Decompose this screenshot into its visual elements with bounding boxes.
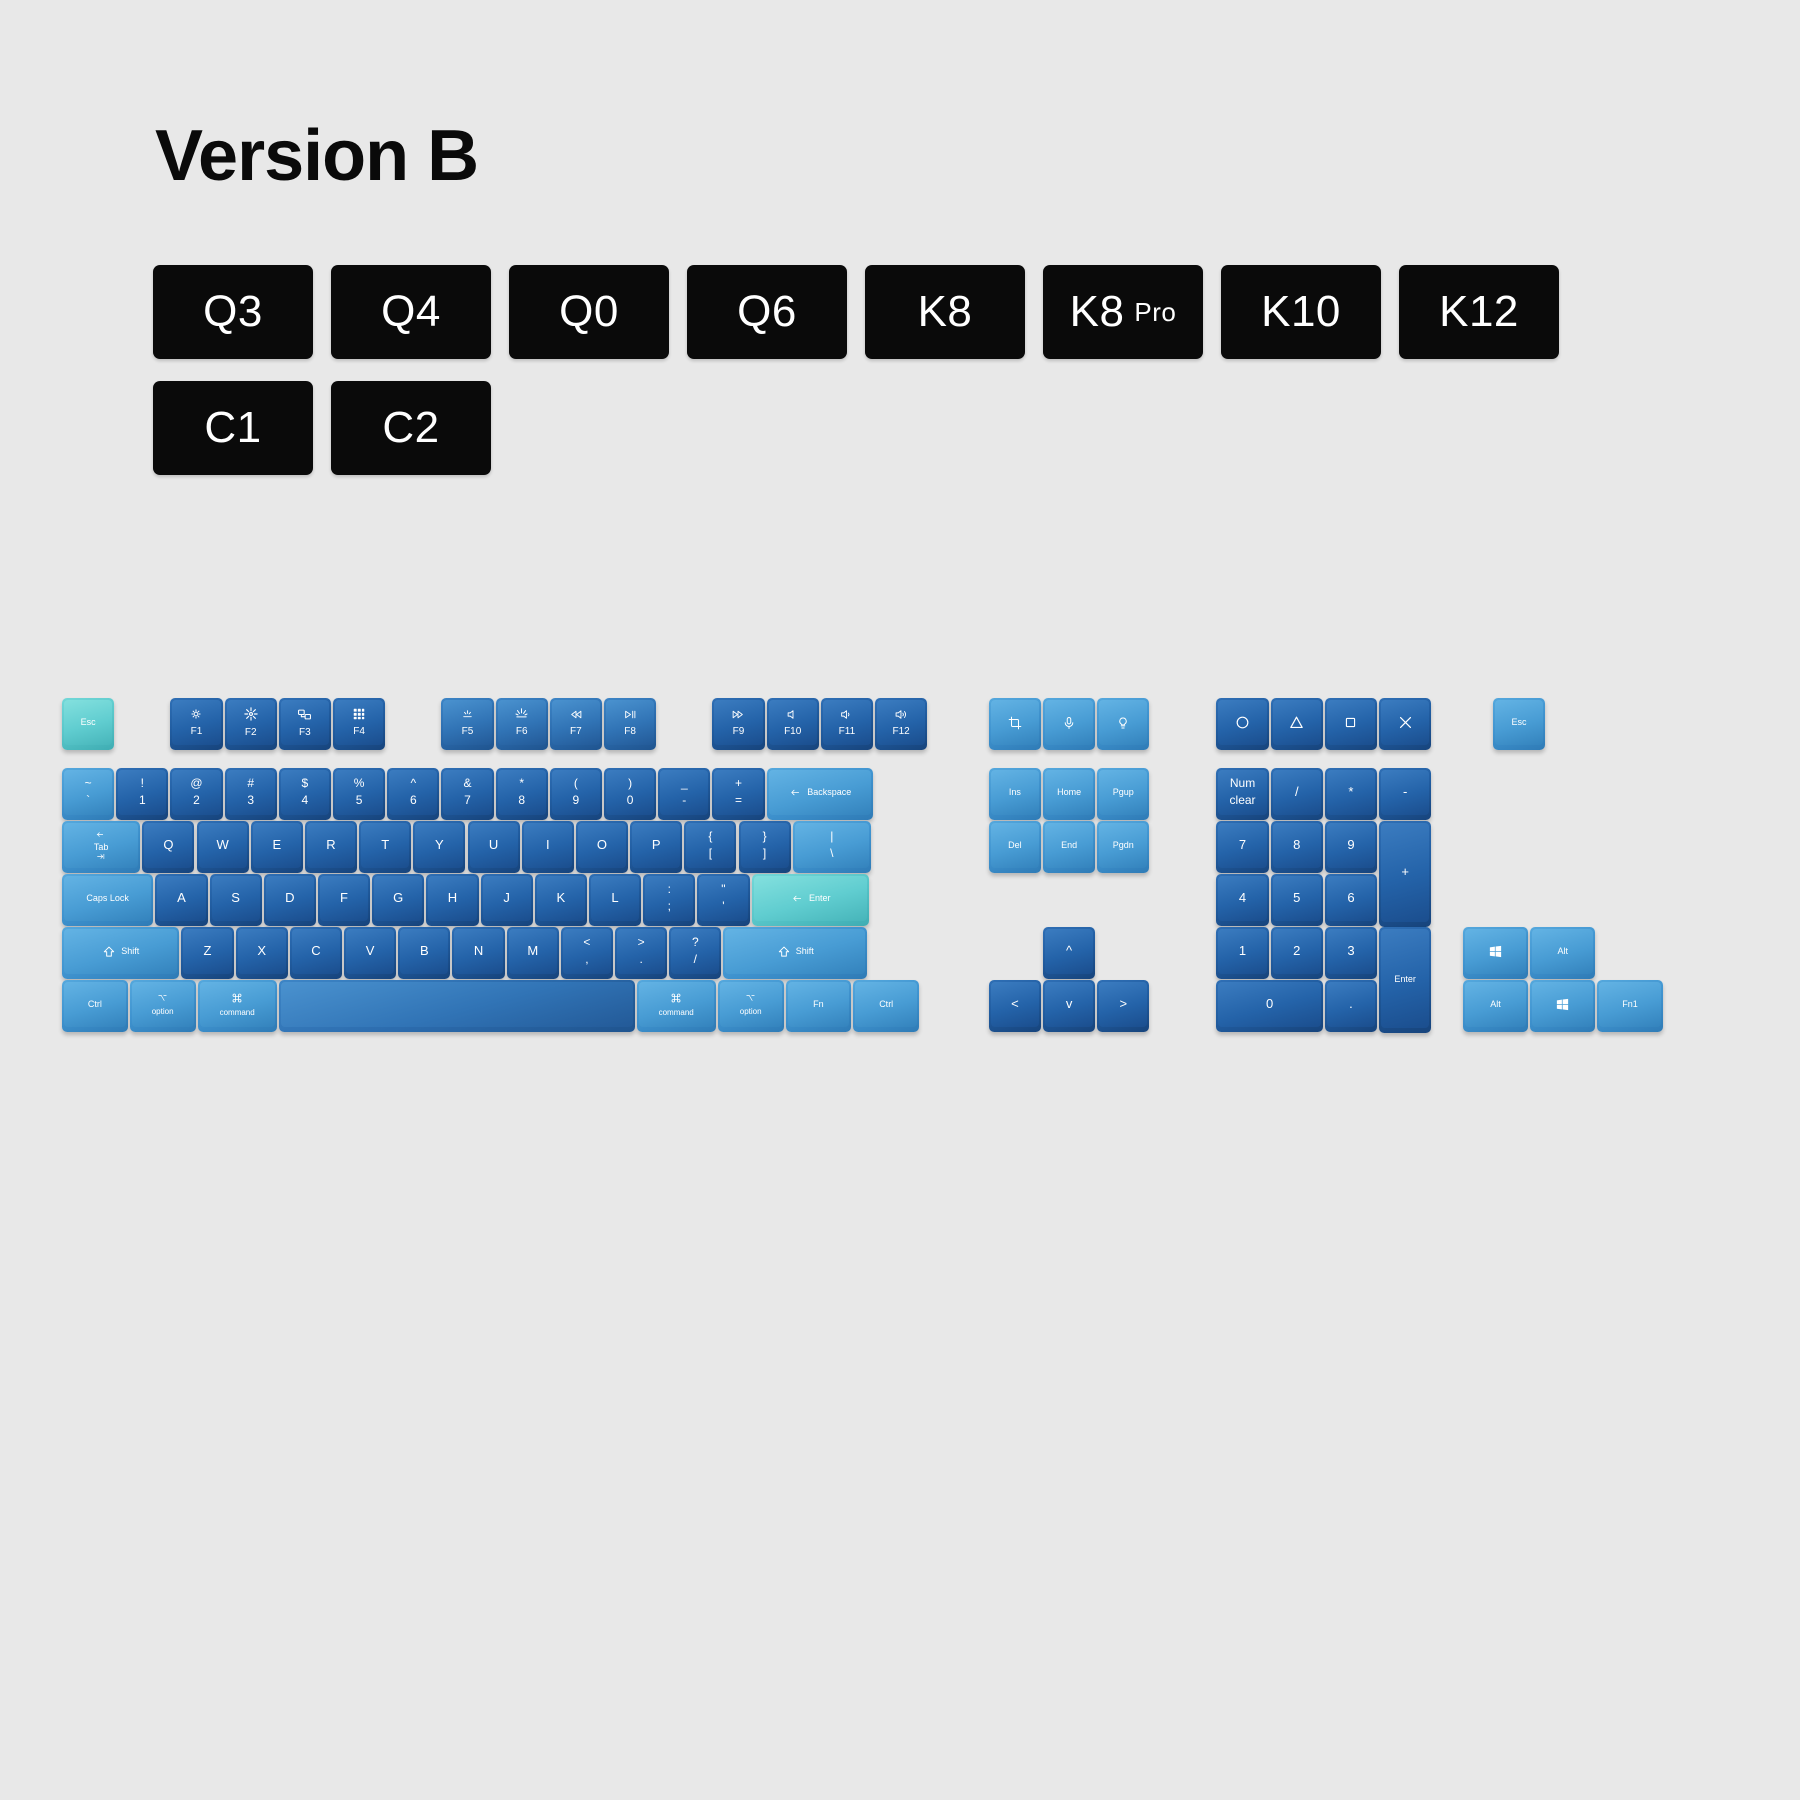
keycap-pgup[interactable]: Pgup [1097,768,1149,820]
keycap-legend: I [546,838,550,853]
keycap-shift-left[interactable]: Shift [62,927,179,979]
keycap-legend: V [366,944,375,959]
keycap-q[interactable]: Q [142,821,194,873]
keycap-face: C [292,929,340,974]
keycap-legend-top: Num [1230,777,1255,791]
keycap-num-3[interactable]: 3 [1325,927,1377,979]
keycap-arrow-left[interactable]: < [989,980,1041,1032]
keycap-fn1[interactable]: Fn1 [1597,980,1662,1032]
keycap-legend: S [231,891,240,906]
keycap-face: Ins [991,770,1039,815]
keycap-1[interactable]: !1 [116,768,168,820]
keycap-face: F8 [606,700,654,745]
keycap-face [1218,700,1266,745]
keycap-face: |\ [795,823,869,868]
keycap-num-7[interactable]: 7 [1216,821,1268,873]
keycap-g[interactable]: G [372,874,424,926]
keycap-screenshot[interactable] [989,698,1041,750]
keycap-m[interactable]: M [507,927,559,979]
keycap-legend: + [1401,865,1409,880]
keycap-caps-lock[interactable]: Caps Lock [62,874,153,926]
keycap-9[interactable]: (9 [550,768,602,820]
arrow-left-icon [790,893,804,904]
keycap-legend-bottom: \ [830,847,833,861]
keycap-face: option [720,982,782,1027]
keycap-face [1381,700,1429,745]
keycap-legend-bottom: clear [1230,794,1256,808]
keycap-face: Y [415,823,463,868]
keycap-legend-bottom: 0 [627,794,634,808]
keycap-legend: F8 [624,726,636,738]
keycap-face: Ctrl [64,982,126,1027]
keycap-legend: E [272,838,281,853]
keycap-legend: < [1011,997,1019,1012]
keycap-face: v [1045,982,1093,1027]
keycap-legend: 2 [1293,944,1300,959]
keycap-legend: 8 [1293,838,1300,853]
keycap-semicolon[interactable]: :; [643,874,695,926]
keycap-legend-bottom: , [585,953,588,967]
keycap-legend: v [1066,997,1073,1012]
keycap-w[interactable]: W [197,821,249,873]
keycap-face: A [157,876,205,921]
keycap-face [1273,700,1321,745]
keycap-e[interactable]: E [251,821,303,873]
keycap-legend: F10 [784,726,801,738]
keycap-face: Alt [1465,982,1526,1027]
keycap-face: $4 [281,770,329,815]
keycap-arrow-up[interactable]: ^ [1043,927,1095,979]
keycap-face: ^ [1045,929,1093,974]
keycap-face: 8 [1273,823,1321,868]
keycap-face: F9 [714,700,762,745]
keycap-legend: Esc [1511,717,1526,727]
keycap-face: Del [991,823,1039,868]
keycap-legend: O [597,838,607,853]
keycap-legend: K [557,891,566,906]
keycap-slash[interactable]: ?/ [669,927,721,979]
keycap-option-right[interactable]: option [718,980,784,1032]
command-icon [231,992,243,1004]
keycap-f4[interactable]: F4 [333,698,385,750]
keycap-square[interactable] [1325,698,1377,750]
triangle-icon [1288,714,1305,731]
keycap-num-multiply[interactable]: * [1325,768,1377,820]
keycap-face: option [132,982,194,1027]
keycap-legend: 1 [1239,944,1246,959]
keycap-face: F11 [823,700,871,745]
keycap-option-left[interactable]: option [130,980,196,1032]
keycap-3[interactable]: #3 [225,768,277,820]
keycap-legend: Shift [796,946,814,956]
keycap-face: (9 [552,770,600,815]
keycap-face: Tab [64,823,138,868]
keycap-face: command [200,982,275,1027]
launchpad-icon [352,707,366,721]
keycap-circle[interactable] [1216,698,1268,750]
keycap-z[interactable]: Z [181,927,233,979]
keycap-l[interactable]: L [589,874,641,926]
volume-down-icon [839,708,854,721]
tab-icon-out [94,852,109,861]
keycap-legend-top: " [721,883,725,897]
keycap-del[interactable]: Del [989,821,1041,873]
brightness-down-icon [189,707,203,721]
keycap-ctrl-left[interactable]: Ctrl [62,980,128,1032]
keycap-face: M [509,929,557,974]
keycap-legend-top: ^ [410,777,416,791]
keycap-dictation[interactable] [1043,698,1095,750]
keycap-face: F [320,876,368,921]
keycap-legend: C [311,944,320,959]
keycap-face: %5 [335,770,383,815]
keycap-face: }] [741,823,789,868]
keycap-equal[interactable]: += [712,768,764,820]
keycap-face: 0 [1218,982,1320,1027]
keycap-home[interactable]: Home [1043,768,1095,820]
keycap-num-minus[interactable]: - [1379,768,1431,820]
keycap-legend: F2 [245,727,257,739]
keycap-legend-top: @ [190,777,202,791]
keycap-num-4[interactable]: 4 [1216,874,1268,926]
keycap-legend: G [393,891,403,906]
shift-arrow-icon [777,945,791,959]
keycap-legend-bottom: - [682,794,686,808]
keycap-legend: Ins [1009,787,1021,797]
keycap-legend: L [611,891,618,906]
keycap-arrow-right[interactable]: > [1097,980,1149,1032]
square-icon [1343,715,1358,730]
keycap-face: Esc [1495,700,1543,745]
keycap-legend-bottom: 9 [573,794,580,808]
keycap-face: !1 [118,770,166,815]
keycap-num-6[interactable]: 6 [1325,874,1377,926]
keycap-face: Fn1 [1599,982,1660,1027]
keycap-face: End [1045,823,1093,868]
keycap-legend-top: & [463,777,471,791]
keycap-face: U [470,823,518,868]
keycap-u[interactable]: U [468,821,520,873]
keycap-legend: command [659,1008,694,1017]
keycap-legend: F3 [299,727,311,739]
keycap-face: O [578,823,626,868]
keycap-legend-top: ~ [85,777,92,791]
keycap-f1[interactable]: F1 [170,698,222,750]
keycap-face: F12 [877,700,925,745]
keycap-face: - [1381,770,1429,815]
keycap-minus[interactable]: _- [658,768,710,820]
keycap-o[interactable]: O [576,821,628,873]
keycap-2[interactable]: @2 [170,768,222,820]
keycap-legend: - [1403,785,1407,800]
keycap-legend-top: # [247,777,254,791]
keycap-esc[interactable]: Esc [62,698,114,750]
keycap-f12[interactable]: F12 [875,698,927,750]
keycap-face: *8 [498,770,546,815]
keycap-f[interactable]: F [318,874,370,926]
keycap-period[interactable]: >. [615,927,667,979]
keycap-f3[interactable]: F3 [279,698,331,750]
keycap-triangle[interactable] [1271,698,1323,750]
keycap-4[interactable]: $4 [279,768,331,820]
keycap-legend: ^ [1066,944,1072,959]
keycap-face: D [266,876,314,921]
keycap-legend-bottom: 1 [139,794,146,808]
keycap-legend: 4 [1239,891,1246,906]
keycap-win-bottom[interactable] [1530,980,1595,1032]
keycap-face: F5 [443,700,491,745]
keycap-face: Numclear [1218,770,1266,815]
keycap-face: += [714,770,762,815]
keycap-num-9[interactable]: 9 [1325,821,1377,873]
keycap-legend: N [474,944,483,959]
keycap-face: F4 [335,700,383,745]
keycap-legend: Del [1008,840,1022,850]
keycap-face: H [428,876,476,921]
keycap-quote[interactable]: "' [697,874,749,926]
keycap-legend: F4 [353,726,365,738]
mute-icon [786,708,800,721]
keycap-legend: R [326,838,335,853]
keycap-f2[interactable]: F2 [225,698,277,750]
keycap-b[interactable]: B [398,927,450,979]
keycap-command-right[interactable]: command [637,980,716,1032]
keycap-legend: F7 [570,726,582,738]
keycap-face: 4 [1218,876,1266,921]
keycap-num-divide[interactable]: / [1271,768,1323,820]
keycap-legend: J [503,891,510,906]
keycap-num-8[interactable]: 8 [1271,821,1323,873]
keycap-legend-top: ( [574,777,578,791]
keycap-legend: 5 [1293,891,1300,906]
play-pause-icon [622,708,638,721]
keycap-face: + [1381,823,1429,922]
keycap-num-enter[interactable]: Enter [1379,927,1431,1033]
keycap-face: ~` [64,770,112,815]
keycap-backslash[interactable]: |\ [793,821,871,873]
x-icon [1397,714,1414,731]
keycap-h[interactable]: H [426,874,478,926]
keycap-shift-right[interactable]: Shift [723,927,867,979]
keycap-face: E [253,823,301,868]
keycap-d[interactable]: D [264,874,316,926]
keycap-fn[interactable]: Fn [786,980,852,1032]
keycap-legend: > [1120,997,1128,1012]
keycap-s[interactable]: S [210,874,262,926]
keycap-legend-bottom: 6 [410,794,417,808]
keycap-face [1045,700,1093,745]
keycap-f9[interactable]: F9 [712,698,764,750]
keycap-f8[interactable]: F8 [604,698,656,750]
keycap-legend-top: < [583,936,590,950]
brightness-up-icon [243,706,259,722]
keycap-tab[interactable]: Tab [62,821,140,873]
keycap-f11[interactable]: F11 [821,698,873,750]
keycap-legend: * [1348,785,1353,800]
keycap-legend-top: + [735,777,742,791]
keycap-num-0[interactable]: 0 [1216,980,1322,1032]
keycap-legend: Esc [81,717,96,727]
keycap-c[interactable]: C [290,927,342,979]
option-icon [744,993,757,1003]
keycap-legend-stack: Tab [94,830,109,862]
keycap-face: :; [645,876,693,921]
keycap-enter[interactable]: Enter [752,874,869,926]
keycap-num-1[interactable]: 1 [1216,927,1268,979]
keycap-alt-bottom[interactable]: Alt [1463,980,1528,1032]
keycap-legend: F1 [191,726,203,738]
keycap-f10[interactable]: F10 [767,698,819,750]
keycap-face: S [212,876,260,921]
keycap-5[interactable]: %5 [333,768,385,820]
keycap-cross[interactable] [1379,698,1431,750]
keycap-face: @2 [172,770,220,815]
keycap-face: N [454,929,502,974]
keycap-face: )0 [606,770,654,815]
keycap-alt-top[interactable]: Alt [1530,927,1595,979]
keycap-legend-bottom: 8 [518,794,525,808]
keycap-win-left[interactable] [1463,927,1528,979]
volume-up-icon [893,708,910,721]
keycap-legend-top: $ [302,777,309,791]
keycap-a[interactable]: A [155,874,207,926]
keycap-p[interactable]: P [630,821,682,873]
keycap-face: J [483,876,531,921]
keycap-bracket-left[interactable]: {[ [684,821,736,873]
keycap-face: {[ [686,823,734,868]
backlight-down-icon [460,708,475,721]
keycap-legend: U [489,838,498,853]
keycap-legend: 6 [1347,891,1354,906]
keycap-legend: Tab [94,842,109,852]
keycap-legend: Enter [809,893,831,903]
keycap-legend: option [740,1007,762,1016]
microphone-icon [1062,715,1076,731]
keycap-siri[interactable] [1097,698,1149,750]
keycap-legend: / [1295,785,1299,800]
keycap-legend-bottom: 5 [356,794,363,808]
keycap-num-5[interactable]: 5 [1271,874,1323,926]
keycap-legend-row: Shift [777,945,814,959]
keycap-legend: Y [435,838,444,853]
keycap-6[interactable]: ^6 [387,768,439,820]
keycap-n[interactable]: N [452,927,504,979]
keycap-face: R [307,823,355,868]
keycap-legend: Ctrl [879,999,893,1009]
keycap-face: B [400,929,448,974]
keycap-legend: H [448,891,457,906]
keycap-y[interactable]: Y [413,821,465,873]
keycap-r[interactable]: R [305,821,357,873]
keycap-face: Caps Lock [64,876,151,921]
option-icon [156,993,169,1003]
keycap-legend: Home [1057,787,1081,797]
keycap-0[interactable]: )0 [604,768,656,820]
keycap-legend: F [340,891,348,906]
keycap-face: Pgup [1099,770,1147,815]
keycap-face: <, [563,929,611,974]
keycap-comma[interactable]: <, [561,927,613,979]
keycap-legend-bottom: 3 [247,794,254,808]
keycap-face: Q [144,823,192,868]
keycap-f7[interactable]: F7 [550,698,602,750]
keycap-num-plus[interactable]: + [1379,821,1431,927]
keycap-8[interactable]: *8 [496,768,548,820]
keycap-legend-bottom: ' [722,900,724,914]
keycap-legend-bottom: ; [668,900,671,914]
keycap-legend: Caps Lock [86,893,129,903]
keycap-legend-row: Enter [790,893,831,904]
keycap-v[interactable]: V [344,927,396,979]
keycap-face [991,700,1039,745]
keycap-legend: F9 [733,726,745,738]
keycap-legend: Backspace [807,787,851,797]
keycap-f6[interactable]: F6 [496,698,548,750]
keycap-face: . [1327,982,1375,1027]
keycap-legend: M [527,944,538,959]
keycap-t[interactable]: T [359,821,411,873]
windows-icon [1555,997,1570,1012]
keycap-face: F7 [552,700,600,745]
keycap-7[interactable]: &7 [441,768,493,820]
keycap-legend-bottom: 2 [193,794,200,808]
keycap-face: 9 [1327,823,1375,868]
keycap-face: F10 [769,700,817,745]
keycap-num-period[interactable]: . [1325,980,1377,1032]
keycap-face: Backspace [769,770,871,815]
keycap-face: Fn [788,982,850,1027]
keycap-face: ?/ [671,929,719,974]
keycap-bracket-right[interactable]: }] [739,821,791,873]
keycap-face: command [639,982,714,1027]
keycap-legend-top: _ [681,777,688,791]
keycap-end[interactable]: End [1043,821,1095,873]
keycap-face: * [1327,770,1375,815]
keycap-command-left[interactable]: command [198,980,277,1032]
keycap-arrow-down[interactable]: v [1043,980,1095,1032]
keycap-face: K [537,876,585,921]
keycap-ins[interactable]: Ins [989,768,1041,820]
keycap-legend-top: } [763,830,767,844]
keycap-face: P [632,823,680,868]
command-icon [670,992,682,1004]
keycap-face: 2 [1273,929,1321,974]
keycap-j[interactable]: J [481,874,533,926]
keycap-legend: F12 [892,726,909,738]
keycap-face: Pgdn [1099,823,1147,868]
keycap-num-clear[interactable]: Numclear [1216,768,1268,820]
keycap-num-2[interactable]: 2 [1271,927,1323,979]
keycap-face: X [238,929,286,974]
keycap-face: Z [183,929,231,974]
keycap-tilde[interactable]: ~` [62,768,114,820]
keycap-legend-top: : [668,883,671,897]
keycap-face [1327,700,1375,745]
keycap-x[interactable]: X [236,927,288,979]
keycap-space[interactable] [279,980,635,1032]
keycap-pgdn[interactable]: Pgdn [1097,821,1149,873]
keycap-esc-alt[interactable]: Esc [1493,698,1545,750]
keycap-k[interactable]: K [535,874,587,926]
keycap-legend-top: ? [692,936,699,950]
keycap-legend: 9 [1347,838,1354,853]
keycap-i[interactable]: I [522,821,574,873]
keycap-f5[interactable]: F5 [441,698,493,750]
backlight-up-icon [513,707,530,721]
keycap-ctrl-right[interactable]: Ctrl [853,980,919,1032]
keycap-backspace[interactable]: Backspace [767,768,873,820]
keycap-face: Home [1045,770,1093,815]
